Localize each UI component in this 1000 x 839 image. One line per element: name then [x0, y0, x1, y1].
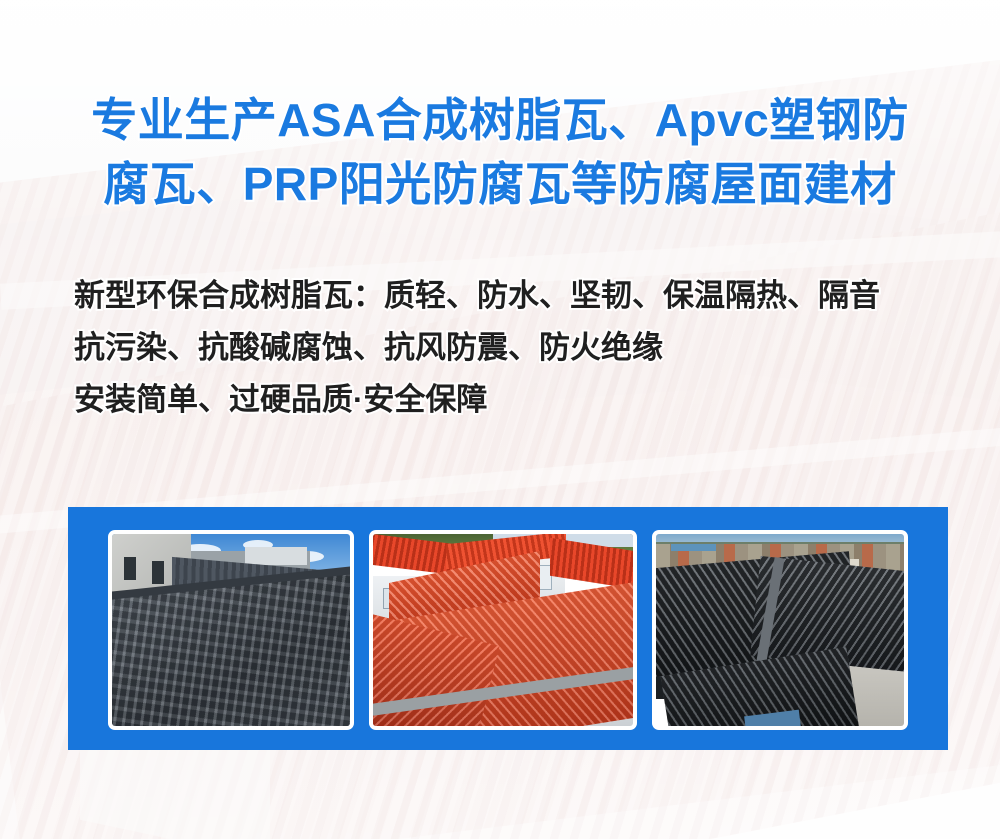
gallery-photo-grey-resin-tile-roof[interactable]: [108, 530, 354, 730]
headline-line-2: 腐瓦、PRP阳光防腐瓦等防腐屋面建材: [0, 152, 1000, 216]
subcopy-line-3: 安装简单、过硬品质·安全保障: [74, 374, 974, 426]
gallery-panel: [68, 507, 948, 750]
photo-image-black-roof: [656, 534, 904, 726]
gallery-photo-red-resin-tile-roof[interactable]: [369, 530, 637, 730]
photo-image-red-roof: [373, 534, 633, 726]
subcopy-line-2: 抗污染、抗酸碱腐蚀、抗风防震、防火绝缘: [74, 322, 974, 374]
headline-line-1: 专业生产ASA合成树脂瓦、Apvc塑钢防: [0, 88, 1000, 152]
photo-image-grey-roof: [112, 534, 350, 726]
gallery-row: [108, 530, 908, 730]
banner-subcopy: 新型环保合成树脂瓦：质轻、防水、坚韧、保温隔热、隔音 抗污染、抗酸碱腐蚀、抗风防…: [74, 270, 974, 426]
subcopy-line-1: 新型环保合成树脂瓦：质轻、防水、坚韧、保温隔热、隔音: [74, 270, 974, 322]
gallery-photo-black-resin-tile-roof[interactable]: [652, 530, 908, 730]
banner-headline: 专业生产ASA合成树脂瓦、Apvc塑钢防 腐瓦、PRP阳光防腐瓦等防腐屋面建材: [0, 88, 1000, 216]
product-banner: 专业生产ASA合成树脂瓦、Apvc塑钢防 腐瓦、PRP阳光防腐瓦等防腐屋面建材 …: [0, 0, 1000, 839]
